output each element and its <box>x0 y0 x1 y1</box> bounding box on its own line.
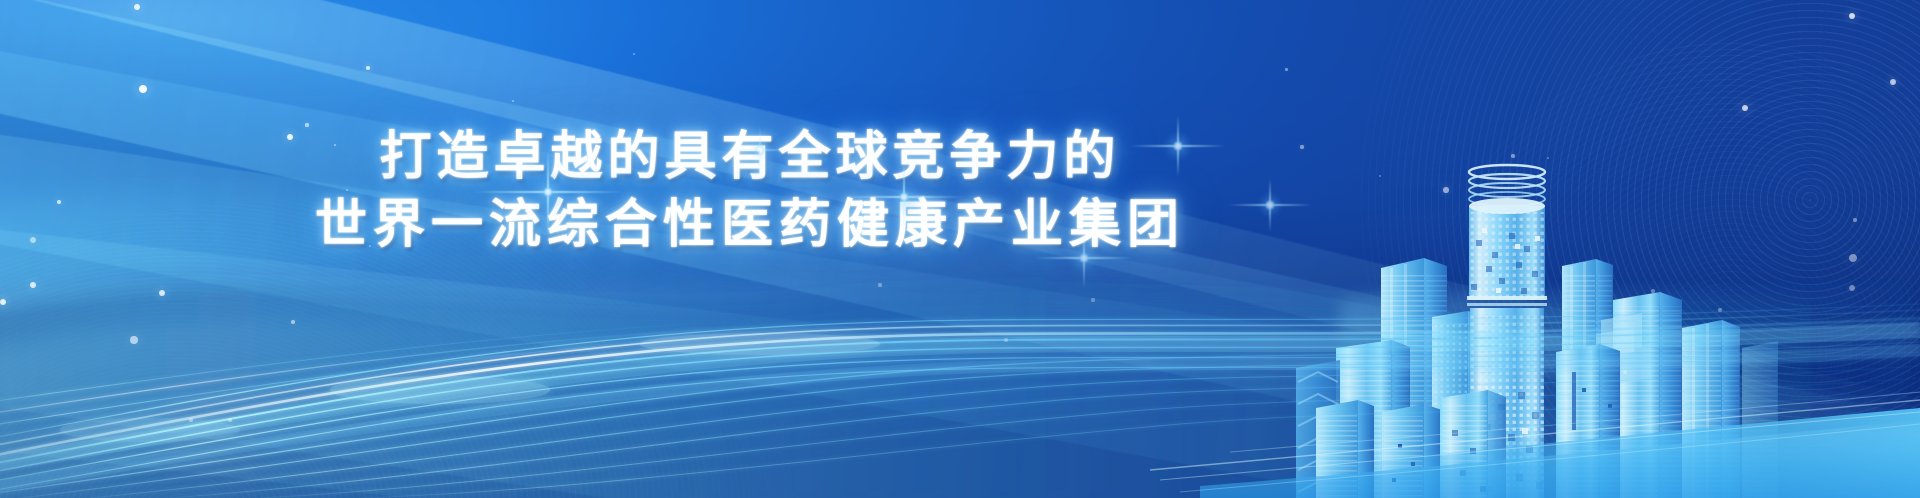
headline-block: 打造卓越的具有全球竞争力的 世界一流综合性医药健康产业集团 <box>0 124 1500 260</box>
hero-banner: 打造卓越的具有全球竞争力的 世界一流综合性医药健康产业集团 <box>0 0 1920 498</box>
headline-line-2: 世界一流综合性医药健康产业集团 <box>0 192 1500 260</box>
headline-line-1: 打造卓越的具有全球竞争力的 <box>0 124 1500 192</box>
